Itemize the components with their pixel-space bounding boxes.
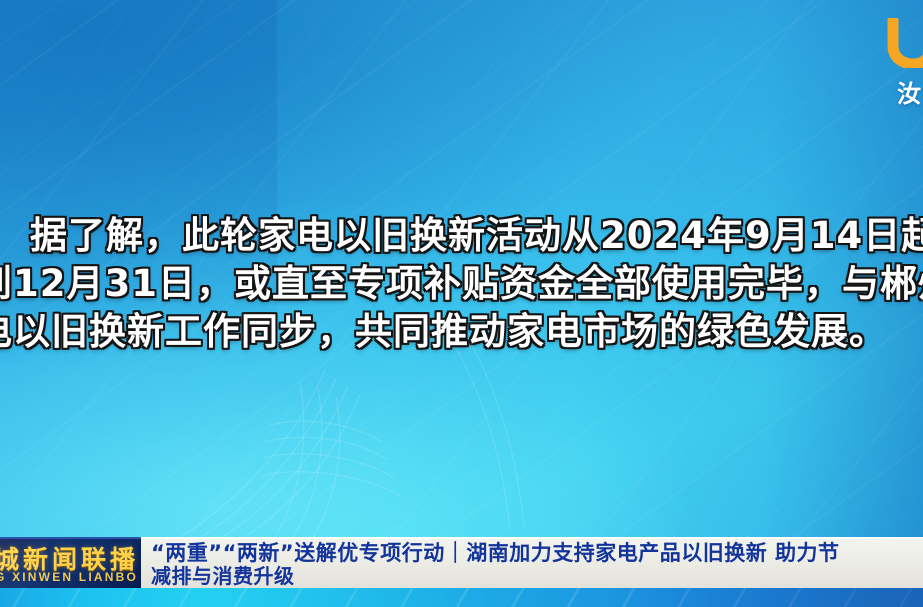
ticker-line-1: “两重”“两新”送解优专项行动｜湖南加力支持家电产品以旧换新 助力节: [151, 542, 923, 565]
subtitle-line-3: 电以旧换新工作同步，共同推动家电市场的绿色发展。: [0, 308, 923, 356]
bottom-strip-right-shade: [609, 588, 923, 607]
program-badge: 城新闻联播 G XINWEN LIANBO: [0, 537, 141, 588]
news-ticker-panel: “两重”“两新”送解优专项行动｜湖南加力支持家电产品以旧换新 助力节 减排与消费…: [141, 537, 923, 588]
subtitle-block: 据了解，此轮家电以旧换新活动从2024年9月14日起持续 到12月31日，或直至…: [0, 212, 923, 356]
subtitle-line-1: 据了解，此轮家电以旧换新活动从2024年9月14日起持续: [30, 212, 923, 260]
lower-third-bar: 城新闻联播 G XINWEN LIANBO “两重”“两新”送解优专项行动｜湖南…: [0, 537, 923, 588]
bottom-accent-strip: [0, 588, 923, 607]
broadcast-screen: 汝 据了解，此轮家电以旧换新活动从2024年9月14日起持续 到12月31日，或…: [0, 0, 923, 607]
ticker-line-2: 减排与消费升级: [151, 565, 923, 588]
subtitle-line-2: 到12月31日，或直至专项补贴资金全部使用完毕，与郴州市家: [0, 260, 923, 308]
program-badge-title-en: G XINWEN LIANBO: [0, 570, 138, 584]
